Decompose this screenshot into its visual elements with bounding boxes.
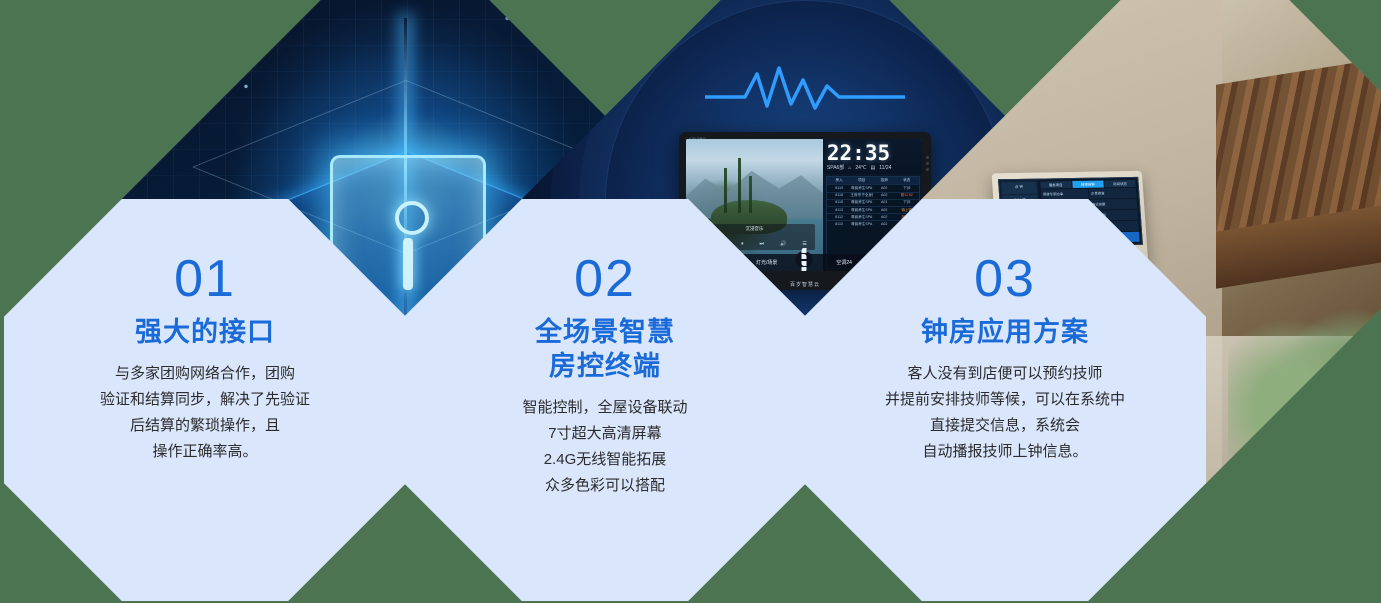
card-description-line: 后结算的繁琐操作，且 bbox=[100, 413, 310, 439]
pause-icon[interactable]: ⏸ bbox=[741, 241, 744, 247]
status-cell: 剩11'52 bbox=[895, 193, 918, 198]
feature-card-3-content: 03 钟房应用方案 客人没有到店便可以预约技师 并提前安排技师等候，可以在系统中… bbox=[804, 199, 1206, 601]
tree-shape bbox=[724, 168, 727, 213]
indicator-dot bbox=[926, 156, 929, 159]
heartbeat-pulse-icon bbox=[705, 64, 905, 116]
indicator-dot bbox=[926, 162, 929, 165]
room-cell: 8115 bbox=[828, 200, 851, 205]
tech-cell: A02 bbox=[873, 222, 896, 227]
volume-icon[interactable]: 🔊 bbox=[780, 241, 786, 247]
room-label: SPA6部 bbox=[827, 164, 844, 171]
column-header-item: 项目 bbox=[850, 178, 873, 183]
item-cell: 王府亭子全身舒护 bbox=[850, 193, 873, 198]
home-grid-icon[interactable] bbox=[796, 251, 813, 268]
card-title-line: 房控终端 bbox=[535, 349, 675, 383]
tech-cell: A02 bbox=[873, 193, 896, 198]
clock-subline: SPA6部 ⌂ 24℃ ▤ 11/24 bbox=[827, 164, 919, 171]
room-cell: 8118 bbox=[828, 193, 851, 198]
column-header-tech: 技师 bbox=[873, 178, 896, 183]
item-cell: 尊爵养生SPA bbox=[850, 215, 873, 220]
card-description: 与多家团购网络合作，团购 验证和结算同步，解决了先验证 后结算的繁琐操作，且 操… bbox=[100, 361, 310, 465]
card-number: 01 bbox=[174, 251, 236, 307]
playlist-icon[interactable]: ☰ bbox=[802, 241, 806, 247]
card-description-line: 操作正确率高。 bbox=[100, 439, 310, 465]
status-cell: 下钟 bbox=[895, 186, 918, 191]
card-title: 强大的接口 bbox=[135, 315, 275, 349]
card-description-line: 自动播报技师上钟信息。 bbox=[885, 439, 1125, 465]
column-header-status: 状态 bbox=[895, 178, 918, 183]
grid-cell bbox=[802, 267, 807, 271]
item-cell: 尊爵养生SPA bbox=[850, 186, 873, 191]
tech-cell: A01 bbox=[873, 200, 896, 205]
tree-shape bbox=[738, 158, 741, 213]
grid-cell bbox=[802, 261, 807, 266]
tech-cell: A02 bbox=[873, 186, 896, 191]
panel-tab[interactable]: 房间状态 bbox=[1104, 180, 1136, 187]
table-row: 8115尊爵养生SPAA01下钟 bbox=[827, 199, 919, 206]
card-description-line: 7寸超大高清屏幕 bbox=[522, 421, 687, 447]
media-title-label: 沉浸音乐 bbox=[745, 226, 763, 232]
panel-tab[interactable]: 技师排钟 bbox=[1072, 180, 1104, 187]
card-description-line: 验证和结算同步，解决了先验证 bbox=[100, 387, 310, 413]
date-label: 11/24 bbox=[879, 165, 891, 171]
grid-cell bbox=[802, 254, 807, 259]
room-cell: 8110 bbox=[828, 222, 851, 227]
panel-service-item[interactable]: 正骨推拿 bbox=[1088, 187, 1136, 198]
card-number: 03 bbox=[974, 251, 1036, 307]
card-description-line: 众多色彩可以搭配 bbox=[522, 473, 687, 499]
air-conditioner-button[interactable]: 空调24 bbox=[836, 259, 852, 266]
room-cell: 8113 bbox=[828, 208, 851, 213]
card-number: 02 bbox=[574, 251, 636, 307]
item-cell: 尊爵养生SPA bbox=[850, 222, 873, 227]
light-scene-button[interactable]: 灯光/场景 bbox=[756, 259, 777, 266]
temperature-label: 24℃ bbox=[855, 165, 866, 171]
item-cell: 尊爵养生SPA bbox=[850, 200, 873, 205]
card-description-line: 并提前安排技师等候，可以在系统中 bbox=[885, 387, 1125, 413]
card-description: 客人没有到店便可以预约技师 并提前安排技师等候，可以在系统中 直接提交信息，系统… bbox=[885, 361, 1125, 465]
card-description: 智能控制，全屋设备联动 7寸超大高清屏幕 2.4G无线智能拓展 众多色彩可以搭配 bbox=[522, 395, 687, 499]
indicator-dot bbox=[926, 168, 929, 171]
tech-cell: A02 bbox=[873, 208, 896, 213]
card-title: 钟房应用方案 bbox=[921, 315, 1089, 349]
diamond-feature-grid: CSI2BO 沉浸音乐 ♪ ⏮ ⏸ bbox=[0, 0, 1381, 603]
table-header-row: 房入 项目 技师 状态 bbox=[827, 177, 919, 184]
card-title-line: 钟房应用方案 bbox=[921, 315, 1089, 349]
thermometer-icon: ⌂ bbox=[848, 165, 851, 171]
room-cell: 8119 bbox=[828, 186, 851, 191]
card-description-line: 智能控制，全屋设备联动 bbox=[522, 395, 687, 421]
card-description-line: 与多家团购网络合作，团购 bbox=[100, 361, 310, 387]
next-track-icon[interactable]: ⏭ bbox=[760, 241, 765, 247]
clock-time-label: 22:35 bbox=[827, 143, 919, 163]
light-beam-icon bbox=[404, 18, 407, 318]
tablet-brand-bottom-label: 百岁智慧云 bbox=[790, 281, 820, 288]
card-title: 全场景智慧 房控终端 bbox=[535, 315, 675, 383]
card-title-line: 强大的接口 bbox=[135, 315, 275, 349]
table-row: 8113尊爵养生SPAA02待上钟 bbox=[827, 206, 919, 213]
grid-cell bbox=[802, 248, 807, 253]
table-row: 8119尊爵养生SPAA02下钟 bbox=[827, 184, 919, 191]
tree-shape bbox=[749, 176, 752, 213]
card-title-line: 全场景智慧 bbox=[535, 315, 675, 349]
clock-widget: 22:35 SPA6部 ⌂ 24℃ ▤ 11/24 bbox=[823, 139, 922, 174]
calendar-icon: ▤ bbox=[871, 165, 876, 171]
room-cell: 8112 bbox=[828, 215, 851, 220]
card-description-line: 直接提交信息，系统会 bbox=[885, 413, 1125, 439]
tech-cell: A02 bbox=[873, 215, 896, 220]
table-row: 8118王府亭子全身舒护A02剩11'52 bbox=[827, 192, 919, 199]
card-description-line: 客人没有到店便可以预约技师 bbox=[885, 361, 1125, 387]
card-description-line: 2.4G无线智能拓展 bbox=[522, 447, 687, 473]
item-cell: 尊爵养生SPA bbox=[850, 208, 873, 213]
column-header-room: 房入 bbox=[828, 178, 851, 183]
